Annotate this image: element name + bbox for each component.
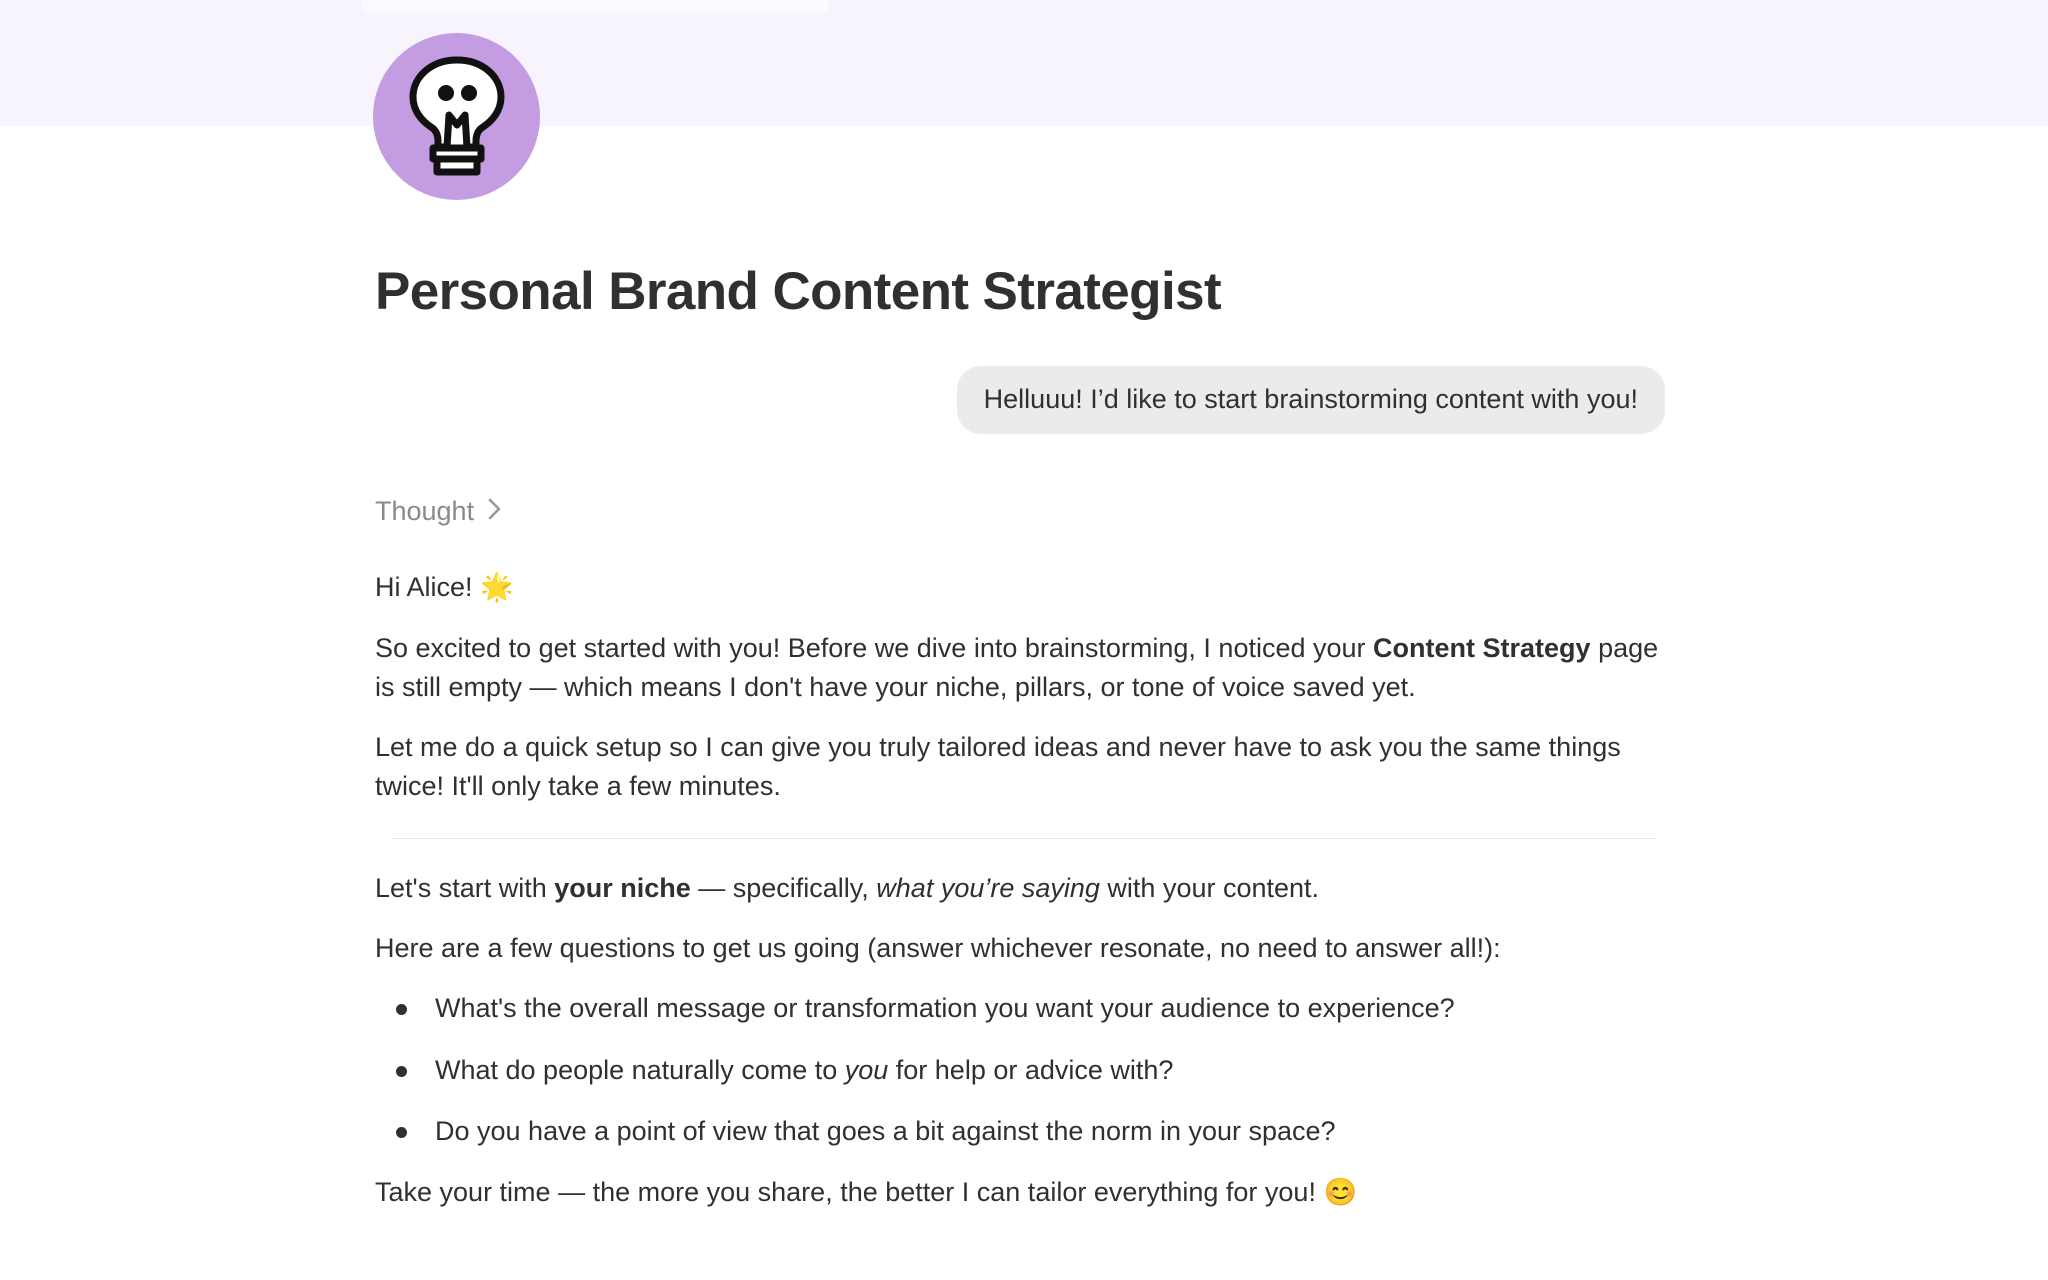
thought-label: Thought (375, 496, 474, 527)
paragraph-1-bold: Content Strategy (1373, 633, 1591, 663)
content-column: Personal Brand Content Strategist Helluu… (375, 262, 1665, 1212)
list-item: What's the overall message or transforma… (375, 989, 1665, 1028)
assistant-avatar[interactable] (373, 33, 540, 200)
question-0-part-1: What's the overall message or transforma… (435, 993, 1455, 1023)
niche-line: Let's start with your niche — specifical… (375, 869, 1665, 908)
assistant-closing: Take your time — the more you share, the… (375, 1173, 1665, 1212)
niche-part-2: — specifically, (691, 873, 877, 903)
paragraph-1-part-1: So excited to get started with you! Befo… (375, 633, 1373, 663)
chevron-right-icon (486, 495, 504, 530)
lightbulb-icon (403, 55, 511, 179)
niche-part-1: Let's start with (375, 873, 554, 903)
greeting-text: Hi Alice! 🌟 (375, 572, 514, 602)
user-message-row: Helluuu! I’d like to start brainstorming… (375, 366, 1665, 434)
question-1-part-2: for help or advice with? (888, 1055, 1173, 1085)
niche-bold: your niche (554, 873, 691, 903)
user-message-bubble[interactable]: Helluuu! I’d like to start brainstorming… (957, 366, 1665, 434)
assistant-paragraph-2: Let me do a quick setup so I can give yo… (375, 728, 1665, 806)
list-item: Do you have a point of view that goes a … (375, 1112, 1665, 1151)
question-2-part-1: Do you have a point of view that goes a … (435, 1116, 1336, 1146)
top-decorative-band (0, 0, 2048, 126)
assistant-paragraph-1: So excited to get started with you! Befo… (375, 629, 1665, 707)
question-1-part-1: What do people naturally come to (435, 1055, 845, 1085)
questions-intro: Here are a few questions to get us going… (375, 929, 1665, 968)
question-1-italic: you (845, 1055, 889, 1085)
page-title: Personal Brand Content Strategist (375, 262, 1665, 323)
thought-toggle[interactable]: Thought (375, 492, 1665, 530)
list-item: What do people naturally come to you for… (375, 1051, 1665, 1090)
niche-part-3: with your content. (1100, 873, 1319, 903)
top-partial-card (362, 0, 828, 12)
assistant-greeting: Hi Alice! 🌟 (375, 568, 1665, 607)
section-divider (391, 838, 1656, 839)
page-root: Personal Brand Content Strategist Helluu… (0, 0, 2048, 1280)
niche-italic: what you’re saying (876, 873, 1100, 903)
assistant-message: Hi Alice! 🌟 So excited to get started wi… (375, 568, 1665, 1212)
questions-list: What's the overall message or transforma… (375, 989, 1665, 1150)
